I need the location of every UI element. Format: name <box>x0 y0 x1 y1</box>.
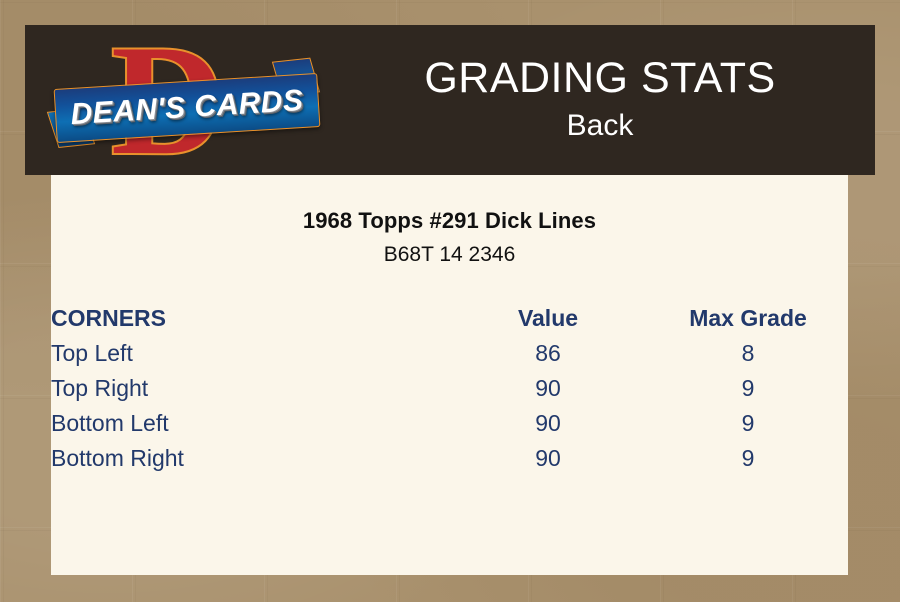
row-max-grade: 9 <box>648 406 848 441</box>
row-value: 90 <box>448 371 648 406</box>
row-label: Bottom Right <box>51 441 448 476</box>
column-header-corners: CORNERS <box>51 301 448 336</box>
table-header-row: CORNERS Value Max Grade <box>51 301 848 336</box>
row-label: Top Right <box>51 371 448 406</box>
table-row: Top Right 90 9 <box>51 371 848 406</box>
row-label: Bottom Left <box>51 406 448 441</box>
row-value: 86 <box>448 336 648 371</box>
column-header-value: Value <box>448 301 648 336</box>
row-max-grade: 9 <box>648 371 848 406</box>
row-value: 90 <box>448 441 648 476</box>
logo-ribbon-banner: DEAN'S CARDS <box>54 73 321 143</box>
stats-table-body: Top Left 86 8 Top Right 90 9 Bottom Left… <box>51 336 848 476</box>
row-label: Top Left <box>51 336 448 371</box>
page-root: D DEAN'S CARDS GRADING STATS Back 1968 T… <box>0 0 900 602</box>
header-bar: D DEAN'S CARDS GRADING STATS Back <box>25 25 875 175</box>
card-identifier: B68T 14 2346 <box>51 243 848 267</box>
deans-cards-logo[interactable]: D DEAN'S CARDS <box>55 29 320 174</box>
content-panel: 1968 Topps #291 Dick Lines B68T 14 2346 … <box>51 175 848 575</box>
stats-table-head: CORNERS Value Max Grade <box>51 301 848 336</box>
header-title-group: GRADING STATS Back <box>325 25 875 175</box>
row-max-grade: 9 <box>648 441 848 476</box>
card-title: 1968 Topps #291 Dick Lines <box>51 208 848 234</box>
logo-wordmark: DEAN'S CARDS <box>55 74 320 142</box>
page-title: GRADING STATS <box>424 52 775 104</box>
column-header-max-grade: Max Grade <box>648 301 848 336</box>
table-row: Bottom Left 90 9 <box>51 406 848 441</box>
table-row: Top Left 86 8 <box>51 336 848 371</box>
grading-stats-table: CORNERS Value Max Grade Top Left 86 8 To… <box>51 301 848 476</box>
page-subtitle: Back <box>567 104 634 148</box>
table-row: Bottom Right 90 9 <box>51 441 848 476</box>
row-max-grade: 8 <box>648 336 848 371</box>
row-value: 90 <box>448 406 648 441</box>
